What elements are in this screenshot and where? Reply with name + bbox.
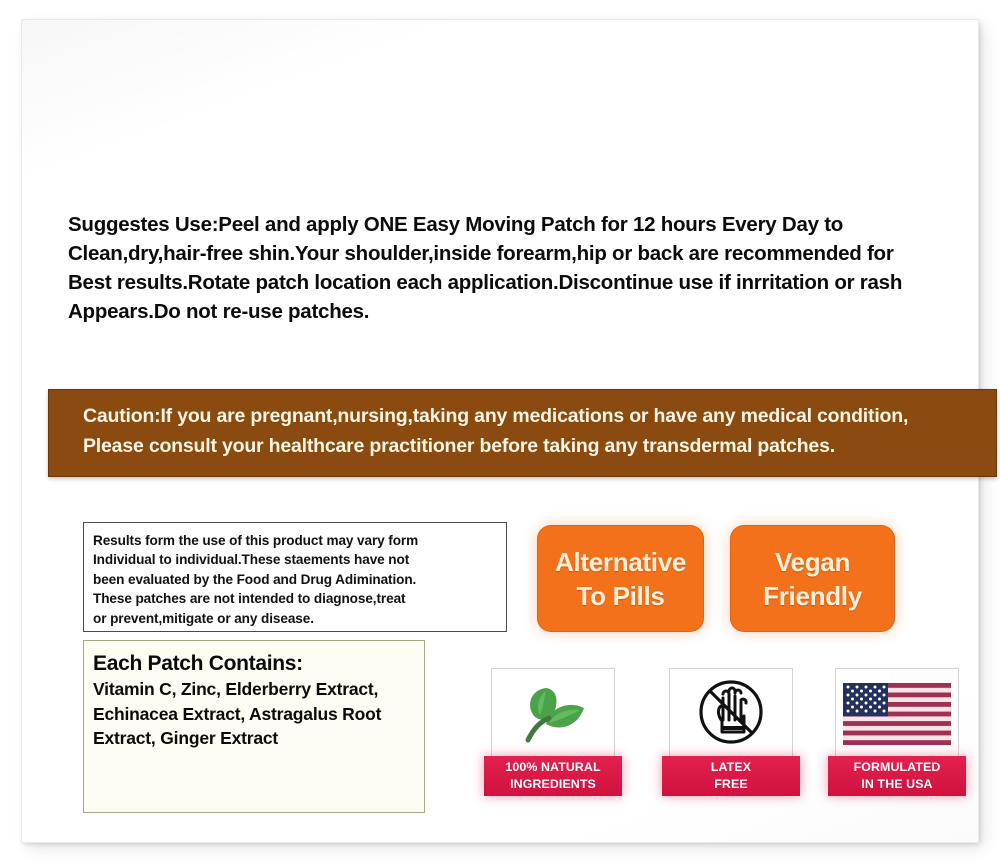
caution-line-1: Caution:If you are pregnant,nursing,taki… bbox=[83, 401, 997, 431]
badge-usa-banner: FORMULATED IN THE USA bbox=[828, 756, 966, 796]
badge-natural-line-2: INGREDIENTS bbox=[510, 776, 596, 793]
suggested-use-line-4: Appears.Do not re-use patches. bbox=[68, 297, 952, 326]
badge-alternative-to-pills: Alternative To Pills bbox=[537, 525, 704, 632]
badge-usa-line-2: IN THE USA bbox=[861, 776, 932, 793]
caution-line-2: Please consult your healthcare practitio… bbox=[83, 431, 997, 461]
ingredients-line-1: Vitamin C, Zinc, Elderberry Extract, bbox=[93, 677, 424, 702]
disclaimer-box: Results form the use of this product may… bbox=[83, 522, 507, 632]
caution-band: Caution:If you are pregnant,nursing,taki… bbox=[48, 389, 997, 477]
suggested-use-line-1: Suggestes Use:Peel and apply ONE Easy Mo… bbox=[68, 210, 952, 239]
badge-alternative-line-2: To Pills bbox=[576, 579, 664, 613]
usa-flag-icon bbox=[843, 683, 951, 745]
badge-vegan-line-2: Friendly bbox=[763, 579, 862, 613]
ingredients-line-3: Extract, Ginger Extract bbox=[93, 726, 424, 751]
badge-alternative-line-1: Alternative bbox=[555, 545, 686, 579]
badge-natural-line-1: 100% NATURAL bbox=[505, 759, 600, 776]
disclaimer-line-4: These patches are not intended to diagno… bbox=[93, 589, 506, 608]
badge-natural-ingredients: 100% NATURAL INGREDIENTS bbox=[484, 668, 622, 796]
badge-usa-line-1: FORMULATED bbox=[854, 759, 941, 776]
badge-latex-line-2: FREE bbox=[714, 776, 747, 793]
ingredients-box: Each Patch Contains: Vitamin C, Zinc, El… bbox=[83, 640, 425, 813]
badge-vegan-friendly: Vegan Friendly bbox=[730, 525, 895, 632]
ingredients-line-2: Echinacea Extract, Astragalus Root bbox=[93, 702, 424, 727]
disclaimer-line-1: Results form the use of this product may… bbox=[93, 531, 506, 550]
disclaimer-line-2: Individual to individual.These staements… bbox=[93, 550, 506, 569]
badge-formulated-in-usa: FORMULATED IN THE USA bbox=[828, 668, 966, 796]
badge-latex-icon-card bbox=[669, 668, 793, 760]
badge-natural-banner: 100% NATURAL INGREDIENTS bbox=[484, 756, 622, 796]
badge-latex-free: LATEX FREE bbox=[662, 668, 800, 796]
no-latex-glove-icon bbox=[695, 676, 767, 753]
suggested-use-text: Suggestes Use:Peel and apply ONE Easy Mo… bbox=[68, 210, 952, 326]
leaves-icon bbox=[516, 680, 590, 749]
suggested-use-line-2: Clean,dry,hair-free shin.Your shoulder,i… bbox=[68, 239, 952, 268]
badge-latex-banner: LATEX FREE bbox=[662, 756, 800, 796]
disclaimer-line-3: been evaluated by the Food and Drug Adim… bbox=[93, 570, 506, 589]
suggested-use-line-3: Best results.Rotate patch location each … bbox=[68, 268, 952, 297]
badge-natural-icon-card bbox=[491, 668, 615, 760]
badge-usa-icon-card bbox=[835, 668, 959, 760]
product-label-card: Suggestes Use:Peel and apply ONE Easy Mo… bbox=[22, 20, 978, 842]
disclaimer-line-5: or prevent,mitigate or any disease. bbox=[93, 609, 506, 628]
badge-vegan-line-1: Vegan bbox=[775, 545, 850, 579]
badge-latex-line-1: LATEX bbox=[711, 759, 751, 776]
ingredients-heading: Each Patch Contains: bbox=[93, 650, 424, 677]
